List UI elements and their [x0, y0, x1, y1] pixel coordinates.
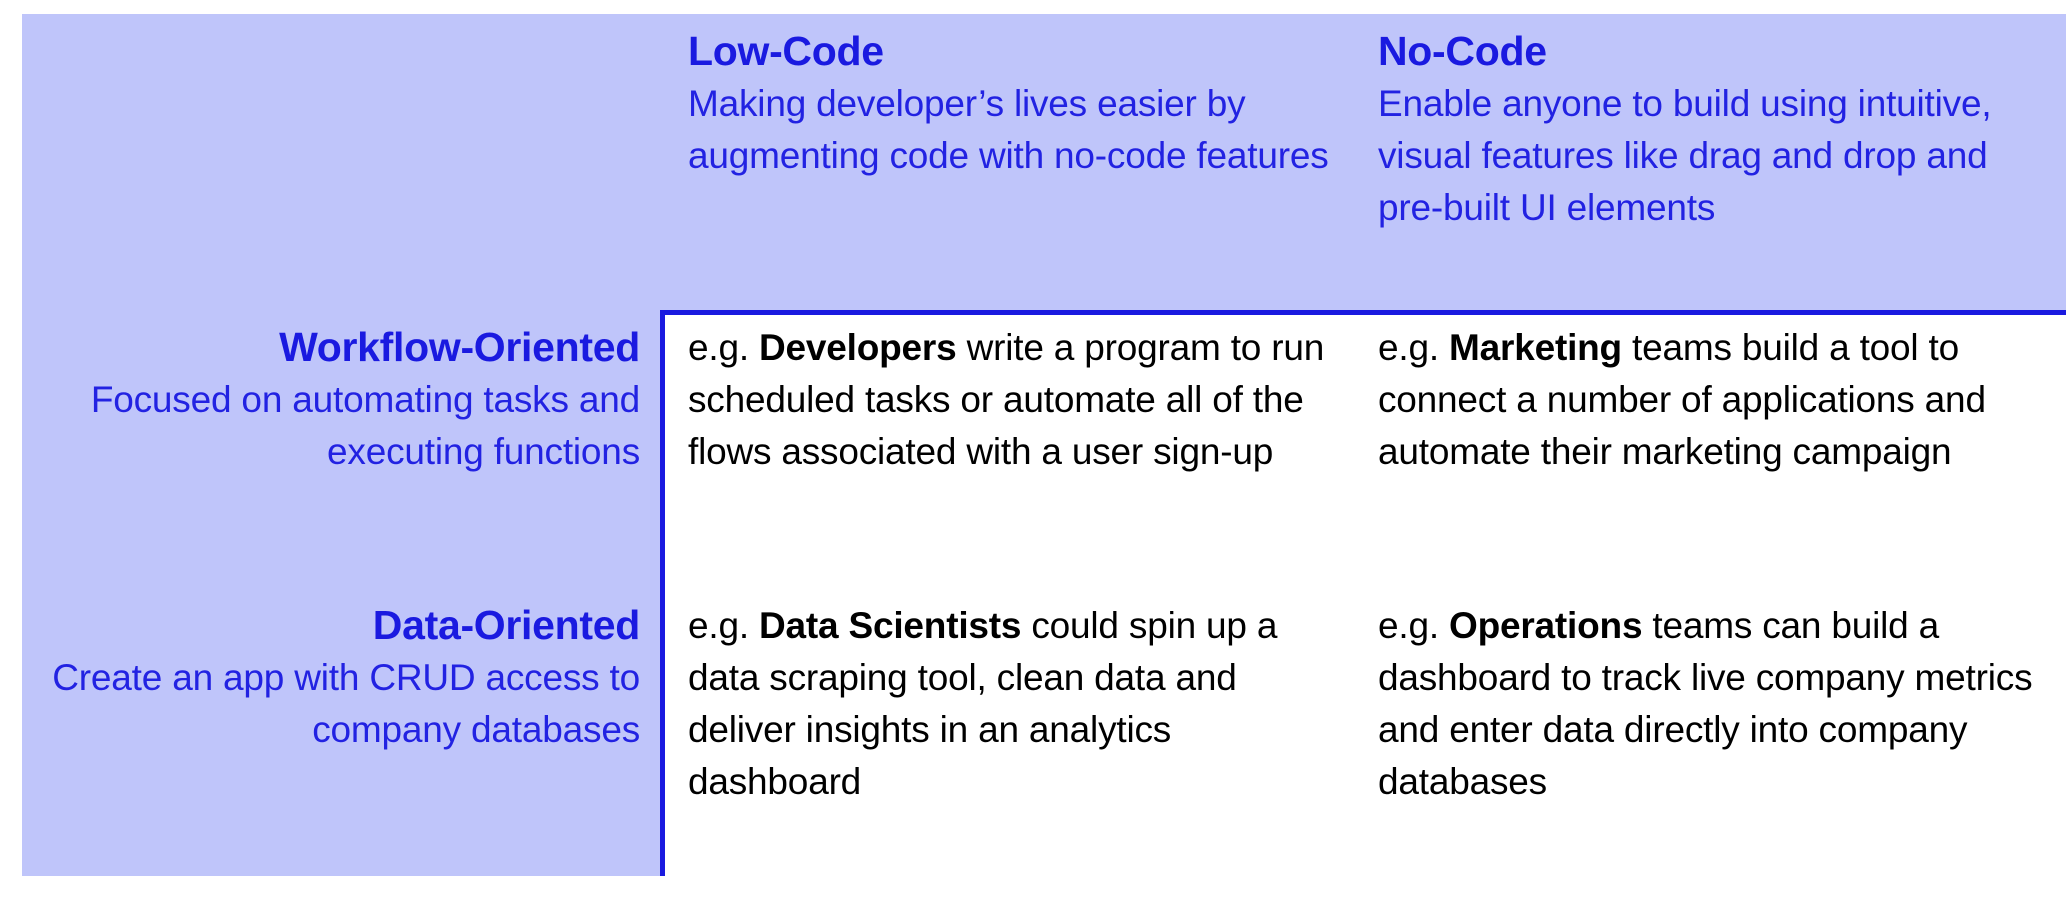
cell-workflow-low-code: e.g. Developers write a program to run s…	[688, 322, 1348, 572]
cell-workflow-no-code-actor: Marketing	[1449, 327, 1622, 368]
column-header-low-code-title: Low-Code	[688, 26, 1348, 76]
column-header-low-code-description: Making developer’s lives easier by augme…	[688, 78, 1348, 182]
cell-data-no-code: e.g. Operations teams can build a dashbo…	[1378, 600, 2038, 850]
cell-data-low-code-text: e.g. Data Scientists could spin up a dat…	[688, 600, 1348, 808]
column-header-no-code-description: Enable anyone to build using intuitive, …	[1378, 78, 2038, 234]
cell-workflow-no-code-prefix: e.g.	[1378, 327, 1449, 368]
cell-workflow-no-code-text: e.g. Marketing teams build a tool to con…	[1378, 322, 2038, 478]
row-header-workflow-oriented-title: Workflow-Oriented	[22, 322, 640, 372]
column-header-no-code: No-Code Enable anyone to build using int…	[1378, 26, 2038, 296]
cell-workflow-no-code: e.g. Marketing teams build a tool to con…	[1378, 322, 2038, 572]
cell-data-no-code-text: e.g. Operations teams can build a dashbo…	[1378, 600, 2038, 808]
comparison-matrix: Low-Code Making developer’s lives easier…	[0, 0, 2066, 902]
column-header-no-code-title: No-Code	[1378, 26, 2038, 76]
matrix-grid: Low-Code Making developer’s lives easier…	[0, 0, 2066, 902]
row-header-data-oriented-description: Create an app with CRUD access to compan…	[22, 652, 640, 756]
cell-data-no-code-prefix: e.g.	[1378, 605, 1449, 646]
row-header-workflow-oriented-description: Focused on automating tasks and executin…	[22, 374, 640, 478]
matrix-corner-cell	[22, 26, 640, 296]
cell-workflow-low-code-text: e.g. Developers write a program to run s…	[688, 322, 1348, 478]
cell-data-no-code-actor: Operations	[1449, 605, 1642, 646]
column-header-low-code: Low-Code Making developer’s lives easier…	[688, 26, 1348, 296]
row-header-workflow-oriented: Workflow-Oriented Focused on automating …	[22, 322, 640, 572]
cell-data-low-code-prefix: e.g.	[688, 605, 759, 646]
cell-workflow-low-code-actor: Developers	[759, 327, 957, 368]
cell-data-low-code-actor: Data Scientists	[759, 605, 1021, 646]
cell-data-low-code: e.g. Data Scientists could spin up a dat…	[688, 600, 1348, 850]
row-header-data-oriented: Data-Oriented Create an app with CRUD ac…	[22, 600, 640, 850]
row-header-data-oriented-title: Data-Oriented	[22, 600, 640, 650]
cell-workflow-low-code-prefix: e.g.	[688, 327, 759, 368]
